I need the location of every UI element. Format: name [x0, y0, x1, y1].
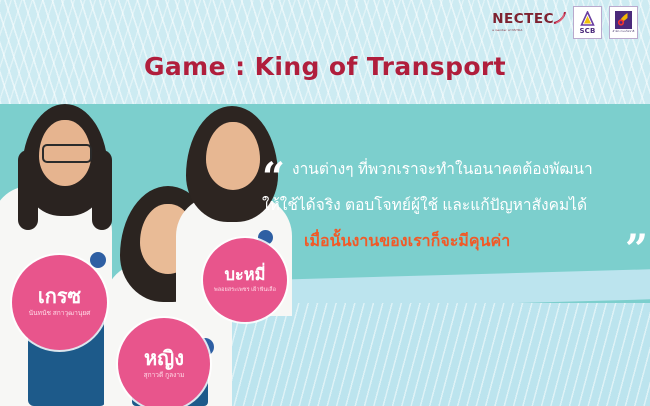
- nectec-logo[interactable]: NECTEC a member of NSTDA: [492, 13, 566, 33]
- quote-line-2: ให้ใช้ได้จริง ตอบโจทย์ผู้ใช้ และแก้ปัญหา…: [262, 188, 644, 224]
- name-badge-ying[interactable]: หญิง สุกาวดี กูลงาม: [118, 318, 210, 406]
- badge-nickname: เกรซ: [38, 287, 81, 307]
- badge-fullname: สุกาวดี กูลงาม: [144, 372, 185, 379]
- name-badge-bamee[interactable]: บะหมี่ พลอยสระเพชร เฝ้าฟันเลือ: [203, 238, 287, 322]
- scb-label: SCB: [579, 28, 595, 35]
- page-title: Game : King of Transport: [0, 52, 650, 81]
- quote-close-mark: ”: [625, 230, 648, 270]
- badge-fullname: นันทนัช สกาวุฒานุยศ: [29, 310, 91, 317]
- quote-block: “ งานต่างๆ ที่พวกเราจะทำในอนาคตต้องพัฒนา…: [262, 152, 644, 260]
- badge-nickname: บะหมี่: [224, 267, 265, 284]
- name-badge-kret[interactable]: เกรซ นันทนัช สกาวุฒานุยศ: [12, 255, 107, 350]
- quote-open-mark: “: [262, 158, 285, 198]
- swoosh-icon: [553, 11, 566, 24]
- badge-nickname: หญิง: [144, 349, 184, 369]
- partner-label: สำนักงานนวัตชาติ: [613, 30, 635, 34]
- partner-logo[interactable]: สำนักงานนวัตชาติ: [609, 6, 638, 39]
- quote-line-1: งานต่างๆ ที่พวกเราจะทำในอนาคตต้องพัฒนา: [262, 152, 644, 188]
- scb-logo[interactable]: SCB: [573, 6, 602, 39]
- sponsor-logos: NECTEC a member of NSTDA SCB สำนักงานนวั…: [492, 6, 638, 39]
- nectec-wordmark: NECTEC: [492, 13, 554, 26]
- promo-banner: NECTEC a member of NSTDA SCB สำนักงานนวั…: [0, 0, 650, 406]
- scb-tree-icon: [580, 11, 595, 27]
- nectec-tagline: a member of NSTDA: [492, 28, 522, 32]
- quote-line-3: เมื่อนั้นงานของเราก็จะมีคุนค่า: [262, 224, 644, 260]
- flame-torch-icon: [615, 11, 632, 29]
- badge-fullname: พลอยสระเพชร เฝ้าฟันเลือ: [214, 287, 276, 293]
